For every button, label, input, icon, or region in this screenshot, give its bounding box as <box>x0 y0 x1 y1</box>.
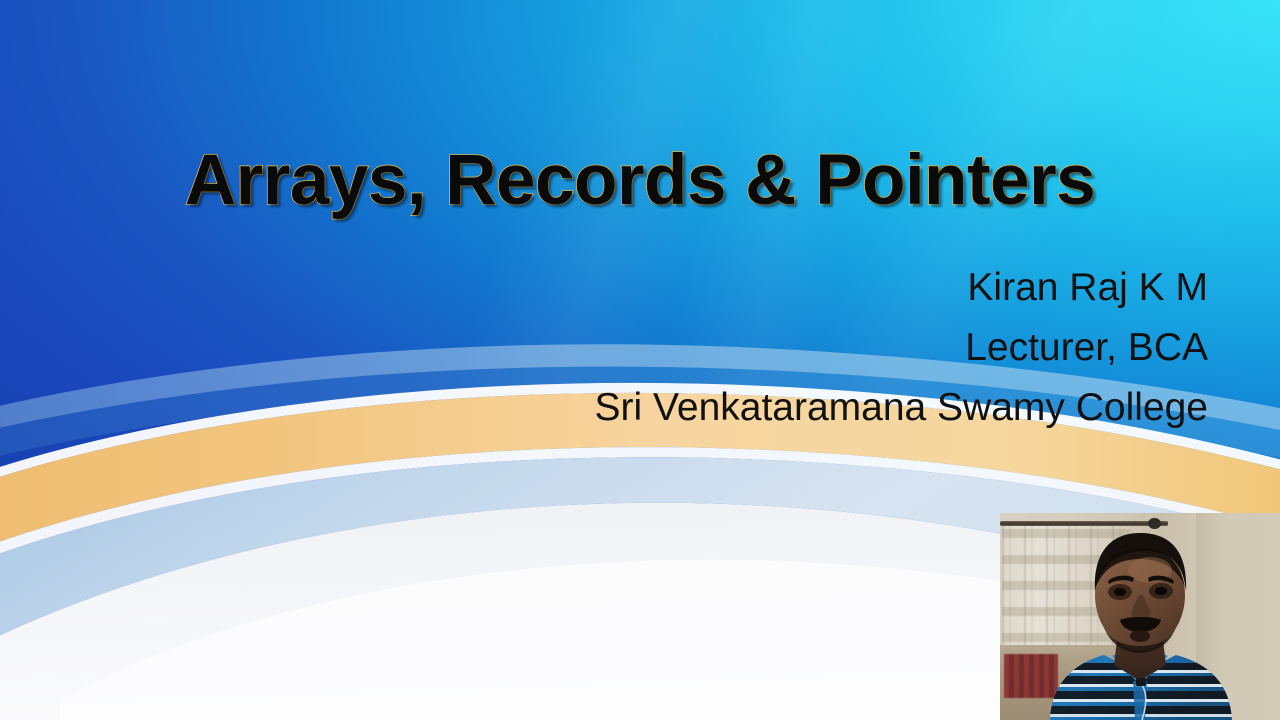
subtitle-line-designation: Lecturer, BCA <box>595 318 1208 378</box>
presenter-lapel-mic <box>1136 678 1146 686</box>
presenter-webcam-overlay[interactable] <box>1000 513 1280 720</box>
webcam-presenter-figure <box>1000 513 1280 720</box>
presenter-eye-right <box>1155 587 1167 595</box>
subtitle-line-institution: Sri Venkataramana Swamy College <box>595 378 1208 438</box>
presenter-mouth <box>1130 630 1150 642</box>
presenter-eye-left <box>1114 588 1126 596</box>
slide-subtitle-block: Kiran Raj K M Lecturer, BCA Sri Venkatar… <box>595 258 1208 438</box>
slide-title: Arrays, Records & Pointers <box>0 140 1280 221</box>
subtitle-line-presenter-name: Kiran Raj K M <box>595 258 1208 318</box>
slide-canvas: Arrays, Records & Pointers Kiran Raj K M… <box>0 0 1280 720</box>
